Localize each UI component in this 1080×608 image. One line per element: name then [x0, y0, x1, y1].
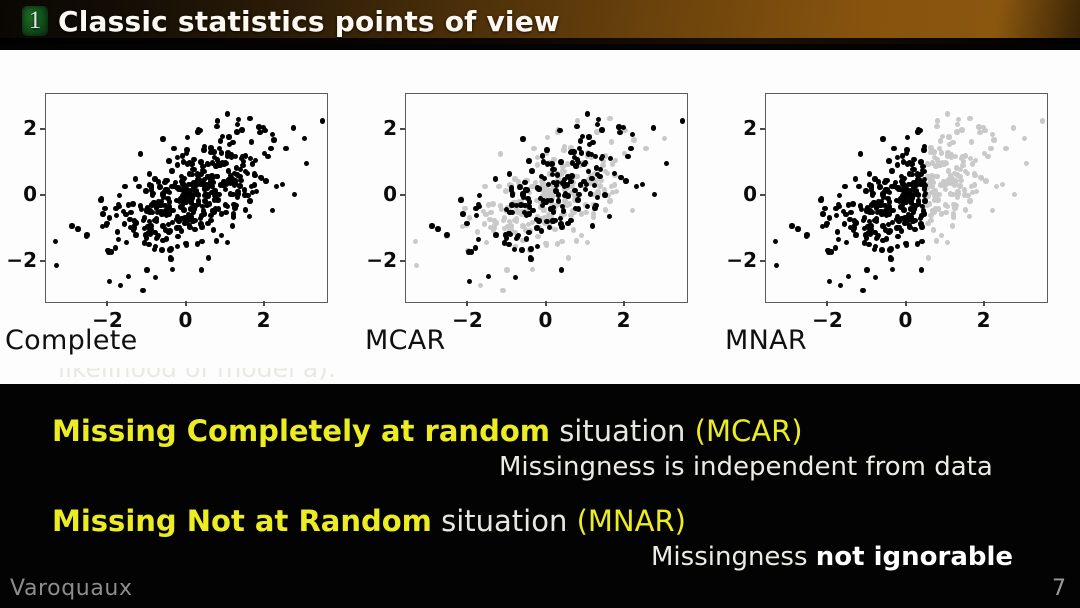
missing-point: [1040, 118, 1045, 123]
footer-author: Varoquaux: [10, 576, 133, 601]
observed-point: [187, 171, 192, 176]
observed-point: [846, 274, 851, 279]
observed-point: [232, 205, 237, 210]
mcar-subnote-text: Missingness is independent from data: [499, 452, 993, 482]
observed-point: [535, 244, 540, 249]
observed-point: [550, 172, 555, 177]
observed-point: [525, 196, 530, 201]
observed-point: [167, 247, 172, 252]
y-tickmark: [760, 194, 765, 196]
observed-point: [888, 256, 893, 261]
observed-point: [474, 213, 479, 218]
y-tickmark: [40, 260, 45, 262]
x-tickmark: [826, 301, 828, 306]
missing-point: [932, 197, 937, 202]
observed-point: [856, 184, 861, 189]
missing-point: [614, 189, 619, 194]
x-tick-label: −2: [805, 308, 849, 332]
observed-point: [556, 198, 561, 203]
observed-point: [901, 159, 906, 164]
missing-point: [610, 161, 615, 166]
observed-point: [590, 140, 595, 145]
observed-point: [838, 283, 843, 288]
y-tick-label: 2: [357, 116, 397, 140]
mcar-keyword: Missing Completely at random: [52, 414, 550, 448]
observed-point: [564, 182, 569, 187]
observed-point: [836, 237, 841, 242]
observed-point: [136, 184, 141, 189]
observed-point: [168, 256, 173, 261]
observed-point: [585, 204, 590, 209]
observed-point: [182, 220, 187, 225]
observed-point: [170, 267, 175, 272]
missing-point: [946, 168, 951, 173]
x-tickmark: [623, 301, 625, 306]
observed-point: [175, 234, 180, 239]
observed-point: [100, 211, 105, 216]
observed-point: [163, 187, 168, 192]
y-tick-label: −2: [357, 248, 397, 272]
observed-point: [458, 197, 463, 202]
observed-point: [158, 209, 163, 214]
observed-point: [270, 132, 275, 137]
missing-point: [564, 203, 569, 208]
y-tick-label: −2: [0, 248, 37, 272]
observed-point: [148, 223, 153, 228]
observed-point: [115, 229, 120, 234]
observed-point: [236, 117, 241, 122]
observed-point: [634, 184, 639, 189]
observed-point: [774, 263, 779, 268]
missing-point: [414, 263, 419, 268]
observed-point: [185, 135, 190, 140]
observed-point: [69, 223, 74, 228]
mnar-statement: Missing Not at Random situation (MNAR): [52, 504, 686, 538]
observed-point: [623, 178, 628, 183]
observed-point: [522, 180, 527, 185]
observed-point: [159, 247, 164, 252]
observed-point: [842, 221, 847, 226]
observed-point: [572, 188, 577, 193]
clipped-previous-line: likelihood of model a).: [58, 368, 618, 390]
observed-point: [526, 230, 531, 235]
scatter-panel-mcar: MCAR −202−202: [360, 50, 720, 384]
observed-point: [918, 221, 923, 226]
missing-point: [933, 206, 938, 211]
missing-point: [514, 216, 519, 221]
missing-point: [957, 183, 962, 188]
mcar-subnote: Missingness is independent from data: [499, 452, 993, 482]
observed-point: [628, 146, 633, 151]
observed-point: [146, 230, 151, 235]
observed-point: [530, 208, 535, 213]
observed-point: [486, 274, 491, 279]
observed-point: [887, 247, 892, 252]
observed-point: [652, 192, 657, 197]
observed-point: [559, 267, 564, 272]
observed-point: [192, 227, 197, 232]
observed-point: [912, 227, 917, 232]
missing-point: [952, 205, 957, 210]
observed-point: [590, 223, 595, 228]
missing-point: [954, 165, 959, 170]
observed-point: [866, 242, 871, 247]
observed-point: [230, 140, 235, 145]
observed-point: [539, 228, 544, 233]
observed-point: [907, 171, 912, 176]
observed-point: [245, 193, 250, 198]
observed-point: [544, 147, 549, 152]
observed-point: [54, 263, 59, 268]
observed-point: [886, 158, 891, 163]
observed-point: [191, 157, 196, 162]
missing-point: [991, 137, 996, 142]
missing-point: [950, 192, 955, 197]
x-tickmark: [263, 301, 265, 306]
observed-point: [153, 275, 158, 280]
observed-point: [502, 240, 507, 245]
missing-point: [967, 198, 972, 203]
observed-point: [512, 247, 517, 252]
missing-point: [1000, 182, 1005, 187]
observed-point: [113, 245, 118, 250]
missing-point: [643, 146, 648, 151]
x-tickmark: [905, 301, 907, 306]
observed-point: [184, 147, 189, 152]
mnar-subnote-text: Missingness: [651, 542, 816, 572]
observed-point: [154, 216, 159, 221]
missing-point: [935, 118, 940, 123]
missing-point: [937, 162, 942, 167]
observed-point: [271, 137, 276, 142]
observed-point: [850, 201, 855, 206]
missing-point: [976, 124, 981, 129]
observed-point: [907, 188, 912, 193]
observed-point: [507, 171, 512, 176]
observed-point: [503, 232, 508, 237]
observed-point: [588, 191, 593, 196]
y-tickmark: [40, 128, 45, 130]
observed-point: [256, 124, 261, 129]
missing-point: [931, 227, 936, 232]
observed-point: [235, 195, 240, 200]
missing-point: [930, 160, 935, 165]
observed-point: [879, 247, 884, 252]
missing-point: [555, 241, 560, 246]
missing-point: [938, 138, 943, 143]
observed-point: [625, 154, 630, 159]
missing-point: [967, 214, 972, 219]
plot-area-complete: [45, 93, 328, 303]
observed-point: [833, 245, 838, 250]
missing-point: [994, 184, 999, 189]
observed-point: [562, 177, 567, 182]
missing-point: [504, 267, 509, 272]
observed-point: [585, 111, 590, 116]
missing-point: [926, 255, 931, 260]
observed-point: [196, 198, 201, 203]
observed-point: [223, 210, 228, 215]
observed-point: [858, 203, 863, 208]
observed-point: [578, 138, 583, 143]
observed-point: [506, 242, 511, 247]
observed-point: [508, 232, 513, 237]
observed-point: [213, 206, 218, 211]
observed-point: [254, 189, 259, 194]
observed-point: [200, 164, 205, 169]
missing-point: [607, 198, 612, 203]
observed-point: [895, 234, 900, 239]
observed-point: [878, 209, 883, 214]
missing-point: [1012, 192, 1017, 197]
missing-point: [484, 240, 489, 245]
observed-point: [235, 189, 240, 194]
observed-point: [102, 206, 107, 211]
observed-point: [589, 176, 594, 181]
observed-point: [851, 227, 856, 232]
missing-point: [609, 139, 614, 144]
observed-point: [827, 215, 832, 220]
plot-area-mnar: [765, 93, 1048, 303]
missing-point: [974, 189, 979, 194]
y-tick-label: 2: [0, 116, 37, 140]
observed-point: [895, 155, 900, 160]
observed-point: [464, 221, 469, 226]
x-tick-label: 2: [602, 308, 646, 332]
observed-point: [920, 164, 925, 169]
missing-point: [413, 239, 418, 244]
footer-page-number: 7: [1052, 576, 1066, 601]
observed-point: [915, 241, 920, 246]
observed-point: [895, 244, 900, 249]
observed-point: [225, 240, 230, 245]
observed-point: [529, 168, 534, 173]
observed-point: [581, 162, 586, 167]
observed-point: [169, 168, 174, 173]
x-tickmark: [185, 301, 187, 306]
observed-point: [835, 229, 840, 234]
observed-point: [160, 136, 165, 141]
missing-point: [545, 135, 550, 140]
missing-point: [990, 208, 995, 213]
mnar-keyword: Missing Not at Random: [52, 504, 432, 538]
missing-point: [978, 175, 983, 180]
x-tickmark: [983, 301, 985, 306]
observed-point: [268, 146, 273, 151]
observed-point: [320, 118, 325, 123]
missing-point: [543, 241, 548, 246]
observed-point: [895, 162, 900, 167]
x-tickmark: [106, 301, 108, 306]
missing-point: [934, 238, 939, 243]
observed-point: [540, 153, 545, 158]
observed-point: [848, 210, 853, 215]
observed-point: [133, 176, 138, 181]
missing-point: [950, 223, 955, 228]
observed-point: [170, 220, 175, 225]
missing-point: [934, 174, 939, 179]
missing-point: [547, 188, 552, 193]
missing-point: [939, 150, 944, 155]
observed-point: [166, 158, 171, 163]
observed-point: [880, 136, 885, 141]
observed-point: [122, 184, 127, 189]
missing-point: [482, 184, 487, 189]
observed-point: [493, 232, 498, 237]
observed-point: [552, 218, 557, 223]
observed-point: [160, 223, 165, 228]
observed-point: [226, 168, 231, 173]
missing-point: [959, 127, 964, 132]
observed-point: [576, 160, 581, 165]
observed-point: [209, 149, 214, 154]
observed-point: [138, 203, 143, 208]
header-title-row: 1 Classic statistics points of view: [22, 1, 560, 41]
observed-point: [526, 158, 531, 163]
observed-point: [217, 162, 222, 167]
missing-point: [595, 189, 600, 194]
observed-point: [144, 267, 149, 272]
missing-point: [990, 132, 995, 137]
missing-point: [462, 206, 467, 211]
slide-header: 1 Classic statistics points of view: [0, 0, 1080, 44]
missing-point: [951, 214, 956, 219]
panel-label-mnar: MNAR: [725, 325, 807, 356]
observed-point: [640, 182, 645, 187]
observed-point: [157, 184, 162, 189]
observed-point: [460, 211, 465, 216]
observed-point: [891, 146, 896, 151]
mnar-subnote-bold: not ignorable: [816, 542, 1013, 572]
observed-point: [162, 180, 167, 185]
observed-point: [206, 255, 211, 260]
missing-point: [945, 240, 950, 245]
observed-point: [100, 224, 105, 229]
observed-point: [192, 218, 197, 223]
observed-point: [905, 135, 910, 140]
observed-point: [117, 193, 122, 198]
observed-point: [843, 212, 848, 217]
observed-point: [138, 151, 143, 156]
missing-point: [612, 182, 617, 187]
observed-point: [820, 224, 825, 229]
observed-point: [595, 195, 600, 200]
observed-point: [291, 125, 296, 130]
observed-point: [853, 176, 858, 181]
scatter-panel-complete: Complete −202−202: [0, 50, 360, 384]
missing-point: [535, 162, 540, 167]
missing-point: [662, 136, 667, 141]
observed-point: [916, 198, 921, 203]
mcar-acronym: (MCAR): [695, 414, 803, 448]
missing-point: [552, 227, 557, 232]
clipped-previous-line-text: likelihood of model a).: [58, 368, 618, 383]
missing-point: [1024, 161, 1029, 166]
observed-point: [594, 165, 599, 170]
missing-point: [574, 174, 579, 179]
observed-point: [862, 240, 867, 245]
observed-point: [131, 227, 136, 232]
observed-point: [146, 242, 151, 247]
observed-point: [896, 225, 901, 230]
missing-point: [956, 117, 961, 122]
observed-point: [140, 288, 145, 293]
observed-point: [877, 184, 882, 189]
observed-point: [473, 245, 478, 250]
observed-point: [215, 118, 220, 123]
observed-point: [874, 216, 879, 221]
observed-point: [128, 210, 133, 215]
observed-point: [160, 238, 165, 243]
observed-point: [123, 212, 128, 217]
observed-point: [198, 221, 203, 226]
missing-point: [591, 214, 596, 219]
missing-point: [483, 212, 488, 217]
observed-point: [858, 151, 863, 156]
observed-point: [822, 206, 827, 211]
observed-point: [868, 223, 873, 228]
missing-point: [963, 207, 968, 212]
observed-point: [230, 192, 235, 197]
observed-point: [617, 130, 622, 135]
observed-point: [834, 213, 839, 218]
observed-point: [122, 221, 127, 226]
observed-point: [827, 279, 832, 284]
missing-point: [970, 161, 975, 166]
y-tickmark: [400, 194, 405, 196]
observed-point: [107, 215, 112, 220]
missing-point: [969, 139, 974, 144]
x-tick-label: −2: [85, 308, 129, 332]
missing-point: [955, 189, 960, 194]
missing-point: [946, 134, 951, 139]
missing-point: [575, 118, 580, 123]
observed-point: [247, 116, 252, 121]
observed-point: [513, 275, 518, 280]
observed-point: [889, 168, 894, 173]
missing-point: [574, 238, 579, 243]
missing-point: [1003, 146, 1008, 151]
observed-point: [541, 159, 546, 164]
observed-point: [586, 134, 591, 139]
observed-point: [873, 275, 878, 280]
observed-point: [114, 213, 119, 218]
observed-point: [292, 192, 297, 197]
observed-point: [569, 149, 574, 154]
section-number-badge: 1: [22, 6, 48, 36]
y-tickmark: [40, 194, 45, 196]
observed-point: [804, 232, 809, 237]
observed-point: [195, 129, 200, 134]
x-tickmark: [466, 301, 468, 306]
scatter-panel-mnar: MNAR −202−202: [720, 50, 1080, 384]
observed-point: [866, 230, 871, 235]
observed-point: [175, 162, 180, 167]
mcar-statement: Missing Completely at random situation (…: [52, 414, 803, 448]
observed-point: [181, 159, 186, 164]
observed-point: [557, 128, 562, 133]
observed-point: [664, 161, 669, 166]
observed-point: [142, 240, 147, 245]
observed-point: [919, 267, 924, 272]
observed-point: [247, 214, 252, 219]
observed-point: [890, 208, 895, 213]
missing-point: [571, 227, 576, 232]
observed-point: [558, 221, 563, 226]
y-tickmark: [760, 128, 765, 130]
missing-point: [925, 221, 930, 226]
missing-point: [965, 193, 970, 198]
